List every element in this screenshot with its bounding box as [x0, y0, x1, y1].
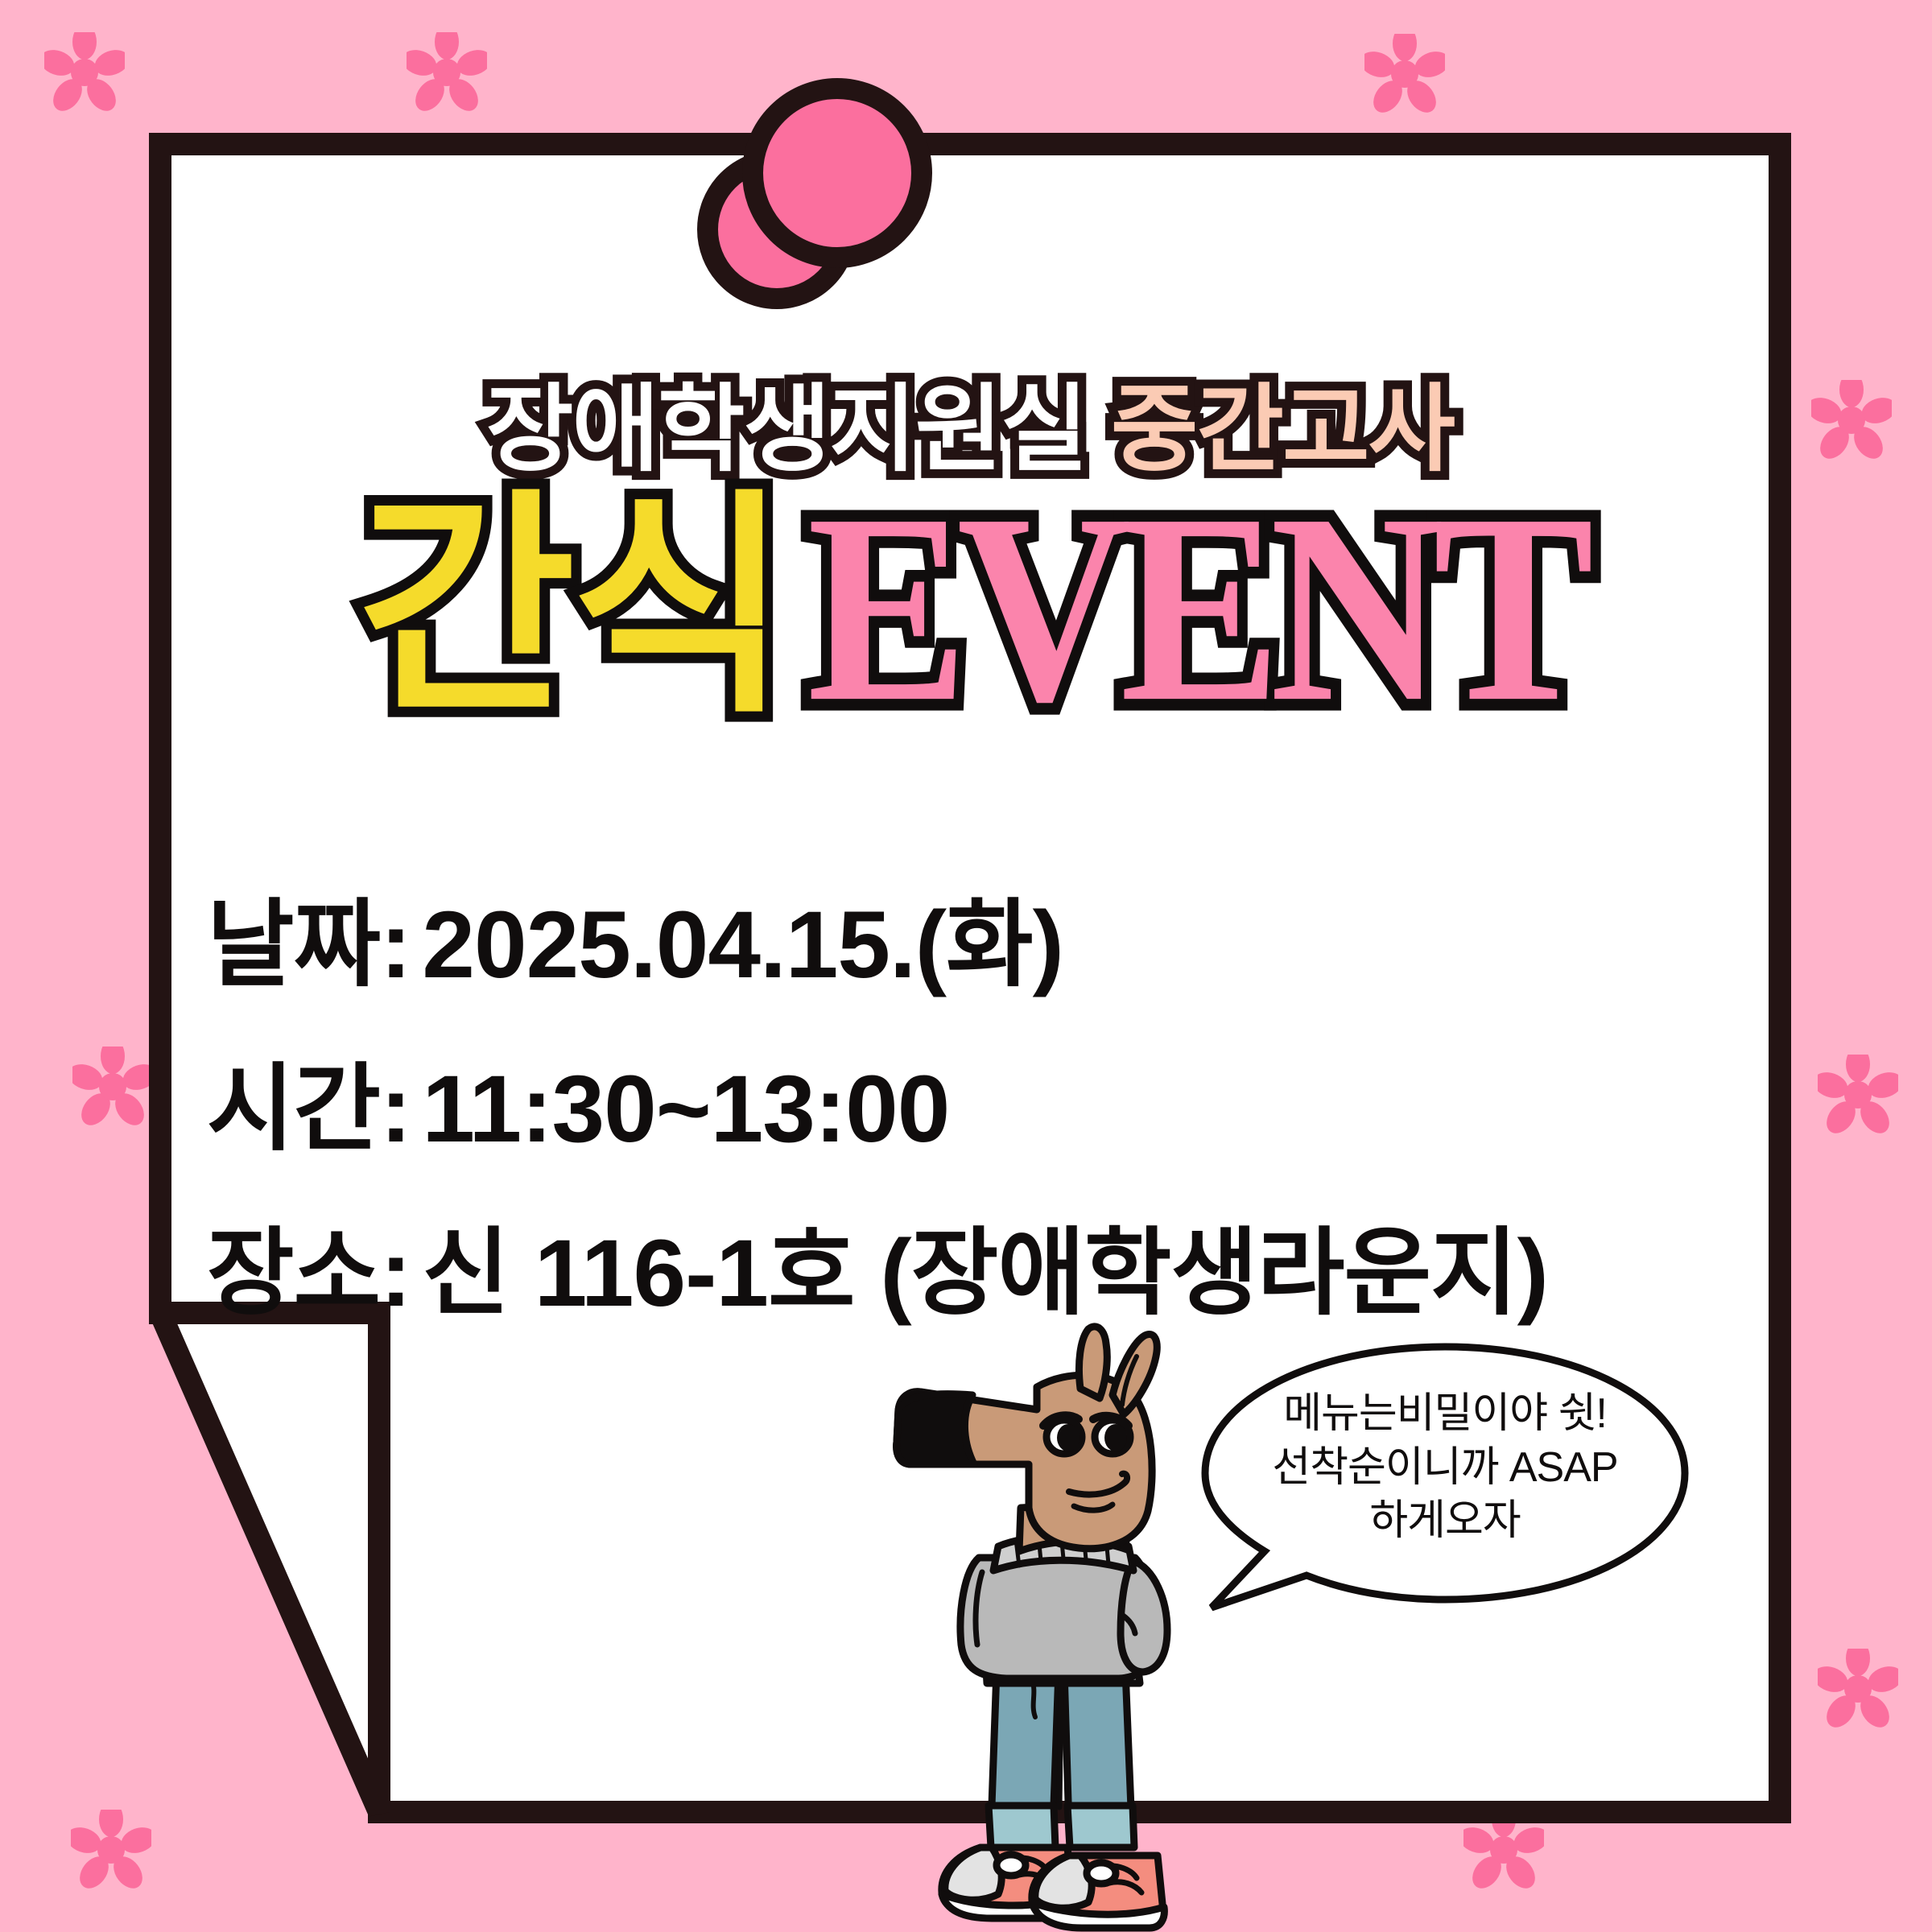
title-korean: 간식: [357, 474, 785, 740]
pushpin-icon: [680, 60, 946, 326]
time-label: 시간:: [207, 1056, 411, 1162]
flower-icon: [1364, 34, 1445, 114]
date-value: 2025.04.15.(화): [422, 892, 1063, 998]
bubble-line-3: 하게오자: [1237, 1494, 1653, 1548]
speech-bubble: 메뉴는비밀이야 쉿! 선착순이니까 ASAP 하게오자: [1195, 1340, 1695, 1614]
dog-mascot-illustration: [877, 1292, 1248, 1932]
flower-icon: [1818, 1649, 1898, 1729]
detail-row-time: 시간:11:30~13:00: [207, 1062, 1785, 1157]
bubble-line-2: 선착순이니까 ASAP: [1237, 1441, 1653, 1495]
speech-bubble-text: 메뉴는비밀이야 쉿! 선착순이니까 ASAP 하게오자: [1237, 1387, 1653, 1548]
detail-row-date: 날짜:2025.04.15.(화): [207, 898, 1785, 993]
flower-icon: [1818, 1055, 1898, 1135]
poster-content: 장애학생지원실중간고사 간식EVENT 날짜:2025.04.15.(화) 시간…: [149, 133, 1791, 1823]
poster-canvas: 장애학생지원실중간고사 간식EVENT 날짜:2025.04.15.(화) 시간…: [0, 0, 1932, 1932]
flower-icon: [44, 32, 125, 113]
page-title: 간식EVENT: [149, 487, 1791, 729]
time-value: 11:30~13:00: [422, 1056, 949, 1162]
place-label: 장소:: [207, 1220, 411, 1327]
flower-icon: [72, 1046, 153, 1127]
date-label: 날짜:: [207, 892, 411, 998]
flower-icon: [71, 1810, 151, 1890]
title-english: EVENT: [807, 473, 1583, 743]
bubble-line-1: 메뉴는비밀이야 쉿!: [1237, 1387, 1653, 1441]
flower-icon: [407, 32, 487, 113]
flower-icon: [1811, 380, 1892, 460]
